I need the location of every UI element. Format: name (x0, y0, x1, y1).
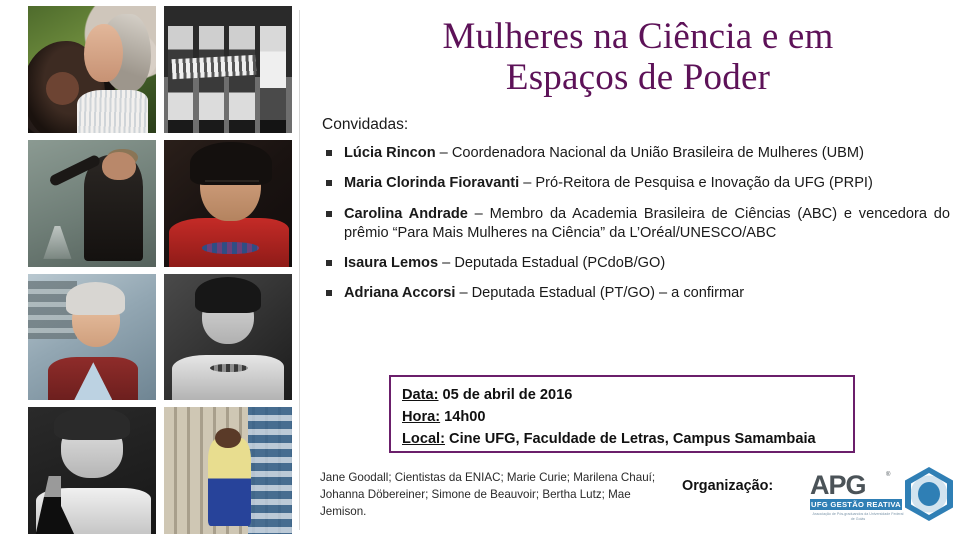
decor-shape (260, 26, 286, 132)
photo-image (28, 274, 156, 401)
photo-simone-de-beauvoir (164, 274, 292, 401)
speakers-list: Lúcia Rincon – Coordenadora Nacional da … (322, 144, 950, 315)
event-date-row: Data: 05 de abril de 2016 (402, 384, 853, 406)
decor-shape (172, 355, 285, 401)
speaker-name: Lúcia Rincon (344, 145, 436, 161)
slide-title: Mulheres na Ciência e em Espaços de Pode… (320, 16, 956, 99)
photo-credits: Jane Goodall; Cientistas da ENIAC; Marie… (320, 470, 670, 521)
event-location-value: Cine UFG, Faculdade de Letras, Campus Sa… (445, 431, 816, 447)
photo-eniac-scientists (164, 6, 292, 133)
list-item: Carolina Andrade – Membro da Academia Br… (322, 205, 950, 244)
event-date-value: 05 de abril de 2016 (439, 387, 573, 403)
photo-jane-goodall (28, 6, 156, 133)
presentation-slide: Mulheres na Ciência e em Espaços de Pode… (0, 0, 960, 540)
speaker-dash: – (519, 175, 535, 191)
decor-shape (84, 24, 122, 82)
photo-image (164, 140, 292, 267)
photo-image (164, 6, 292, 133)
event-location-row: Local: Cine UFG, Faculdade de Letras, Ca… (402, 428, 853, 450)
decor-shape (102, 152, 135, 180)
speaker-role: Coordenadora Nacional da União Brasileir… (452, 145, 864, 161)
decor-shape (195, 277, 262, 312)
list-item: Maria Clorinda Fioravanti – Pró-Reitora … (322, 174, 950, 193)
bullet-square-icon (326, 180, 332, 186)
bullet-square-icon (326, 290, 332, 296)
vertical-divider (299, 10, 300, 530)
speaker-role: Deputada Estadual (PT/GO) – a confirmar (472, 285, 745, 301)
decor-shape (248, 407, 292, 534)
decor-shape (215, 428, 241, 448)
decor-shape (46, 72, 79, 105)
speaker-name: Maria Clorinda Fioravanti (344, 175, 519, 191)
decor-shape (202, 242, 258, 253)
speaker-text: Adriana Accorsi – Deputada Estadual (PT/… (344, 284, 950, 303)
speaker-name: Carolina Andrade (344, 206, 468, 222)
photo-marilena-chaui (164, 140, 292, 267)
bullet-square-icon (326, 211, 332, 217)
list-item: Lúcia Rincon – Coordenadora Nacional da … (322, 144, 950, 163)
speaker-name: Adriana Accorsi (344, 285, 455, 301)
decor-shape (171, 54, 256, 79)
event-date-label: Data: (402, 387, 439, 403)
list-item: Adriana Accorsi – Deputada Estadual (PT/… (322, 284, 950, 303)
decor-shape (66, 282, 125, 315)
photo-marie-curie (28, 140, 156, 267)
bullet-square-icon (326, 260, 332, 266)
slide-content: Mulheres na Ciência e em Espaços de Pode… (312, 0, 960, 540)
hexagon-dot-icon (918, 482, 940, 506)
photo-image (28, 407, 156, 534)
photo-image (28, 6, 156, 133)
speaker-text: Isaura Lemos – Deputada Estadual (PCdoB/… (344, 254, 950, 273)
speaker-name: Isaura Lemos (344, 255, 438, 271)
decor-shape (199, 26, 225, 132)
event-details-box: Data: 05 de abril de 2016 Hora: 14h00 Lo… (389, 375, 855, 453)
decor-shape (208, 438, 252, 527)
list-item: Isaura Lemos – Deputada Estadual (PCdoB/… (322, 254, 950, 273)
invited-label: Convidadas: (322, 116, 408, 134)
decor-shape (229, 26, 255, 132)
event-time-label: Hora: (402, 409, 440, 425)
photo-collage (28, 6, 292, 534)
logo-banner: UFG GESTÃO REATIVA (810, 499, 902, 510)
bullet-square-icon (326, 150, 332, 156)
speaker-dash: – (438, 255, 454, 271)
photo-image (28, 140, 156, 267)
decor-shape (190, 142, 272, 185)
decor-shape (205, 180, 259, 191)
photo-mae-jemison (164, 407, 292, 534)
event-time-row: Hora: 14h00 (402, 406, 853, 428)
apg-logo: APG ® UFG GESTÃO REATIVA Associação de P… (804, 466, 954, 526)
decor-shape (77, 90, 149, 133)
speaker-text: Maria Clorinda Fioravanti – Pró-Reitora … (344, 174, 950, 193)
photo-bertha-lutz (28, 407, 156, 534)
hexagon-icon (905, 467, 953, 521)
decor-shape (168, 26, 194, 132)
speaker-dash: – (468, 206, 490, 222)
speaker-dash: – (436, 145, 452, 161)
speaker-dash: – (455, 285, 471, 301)
speaker-text: Lúcia Rincon – Coordenadora Nacional da … (344, 144, 950, 163)
slide-title-line-1: Mulheres na Ciência e em (320, 16, 956, 57)
speaker-text: Carolina Andrade – Membro da Academia Br… (344, 205, 950, 244)
speaker-role: Deputada Estadual (PCdoB/GO) (454, 255, 665, 271)
slide-title-line-2: Espaços de Poder (320, 57, 956, 98)
organization-label: Organização: (682, 478, 773, 494)
decor-shape (54, 407, 131, 440)
photo-johanna-dobereiner (28, 274, 156, 401)
logo-wordmark: APG (810, 470, 866, 501)
logo-tagline: Associação de Pós-graduandos da Universi… (812, 512, 904, 522)
decor-shape (43, 226, 71, 259)
photo-image (164, 407, 292, 534)
event-time-value: 14h00 (440, 409, 485, 425)
photo-image (164, 274, 292, 401)
trademark-icon: ® (886, 472, 890, 478)
event-location-label: Local: (402, 431, 445, 447)
speaker-role: Pró-Reitora de Pesquisa e Inovação da UF… (535, 175, 872, 191)
